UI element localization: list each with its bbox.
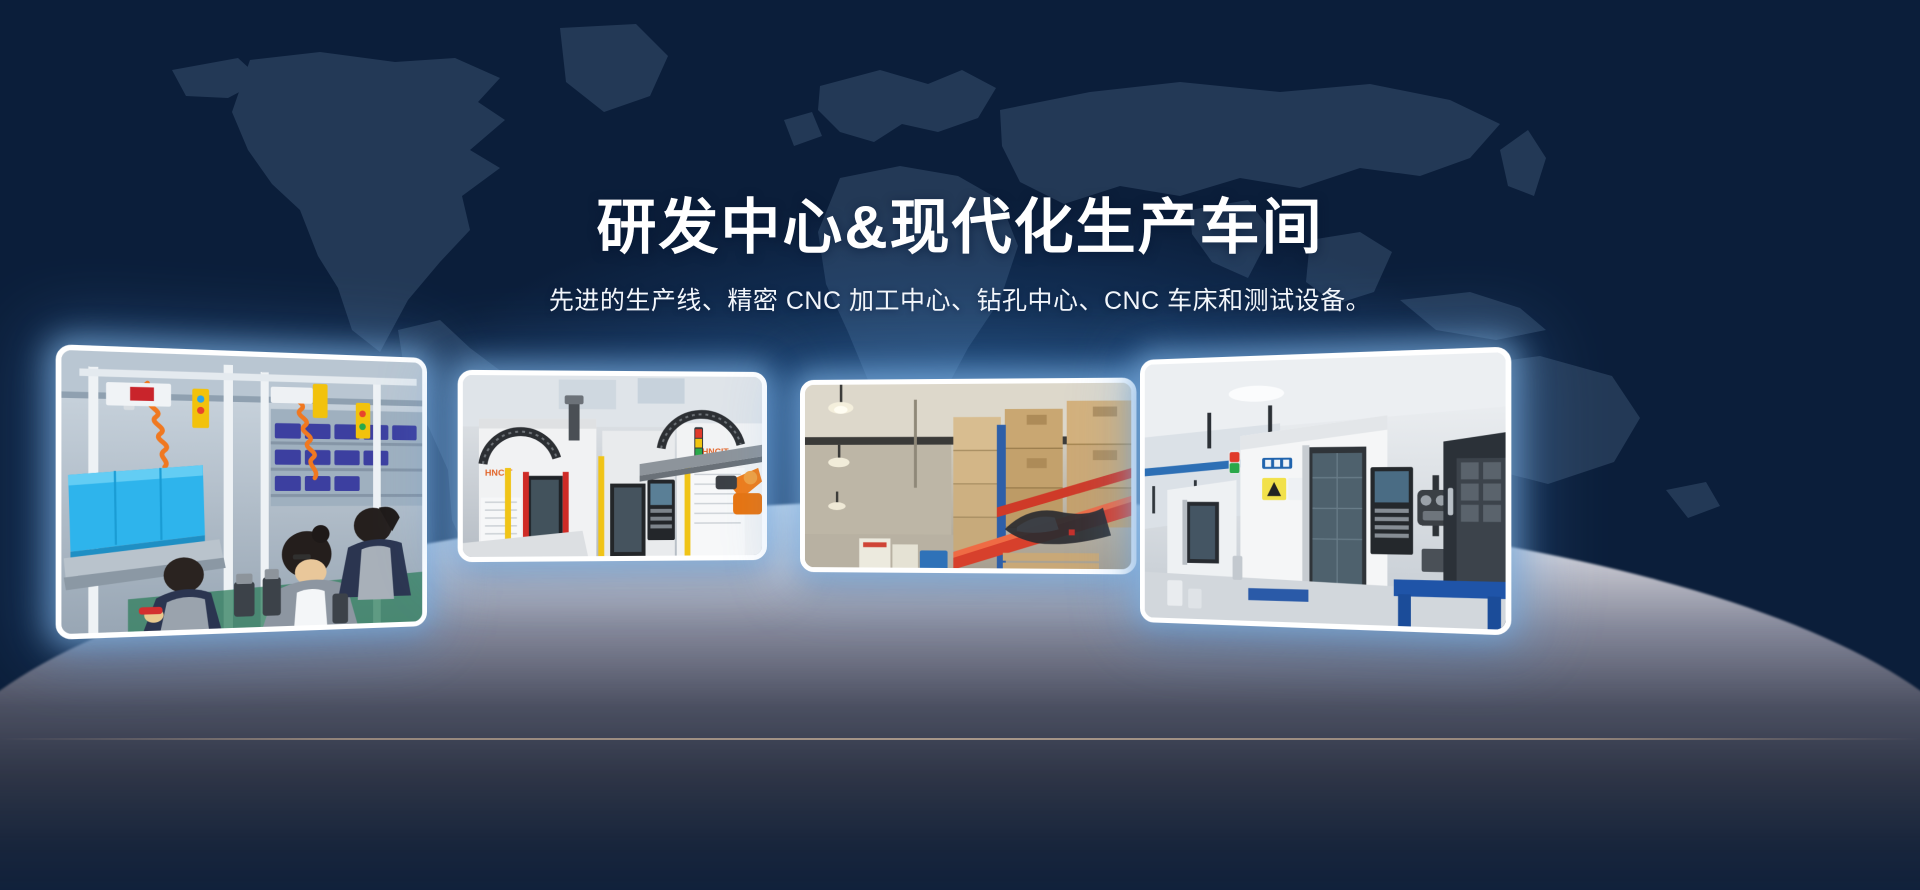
- cnc-lathe-workshop-photo: [1145, 352, 1506, 630]
- gallery-card-warehouse[interactable]: [800, 378, 1136, 575]
- hero-text-block: 研发中心&现代化生产车间 先进的生产线、精密 CNC 加工中心、钻孔中心、CNC…: [0, 196, 1920, 317]
- cnc-machining-center-photo: HNCIT HNCIT: [463, 375, 762, 557]
- page-title: 研发中心&现代化生产车间: [0, 196, 1920, 261]
- gallery-card-cnc-lathe-workshop[interactable]: [1140, 346, 1511, 635]
- horizon-line: [0, 738, 1920, 740]
- assembly-line-photo: [61, 350, 422, 634]
- gallery-card-assembly-line[interactable]: [56, 344, 427, 640]
- hero-banner: 研发中心&现代化生产车间 先进的生产线、精密 CNC 加工中心、钻孔中心、CNC…: [0, 0, 1920, 890]
- photo-gallery: HNCIT HNCIT: [0, 0, 1920, 890]
- page-subtitle: 先进的生产线、精密 CNC 加工中心、钻孔中心、CNC 车床和测试设备。: [0, 281, 1920, 317]
- gallery-card-cnc-machining[interactable]: HNCIT HNCIT: [458, 370, 767, 562]
- warehouse-storage-photo: [805, 383, 1131, 570]
